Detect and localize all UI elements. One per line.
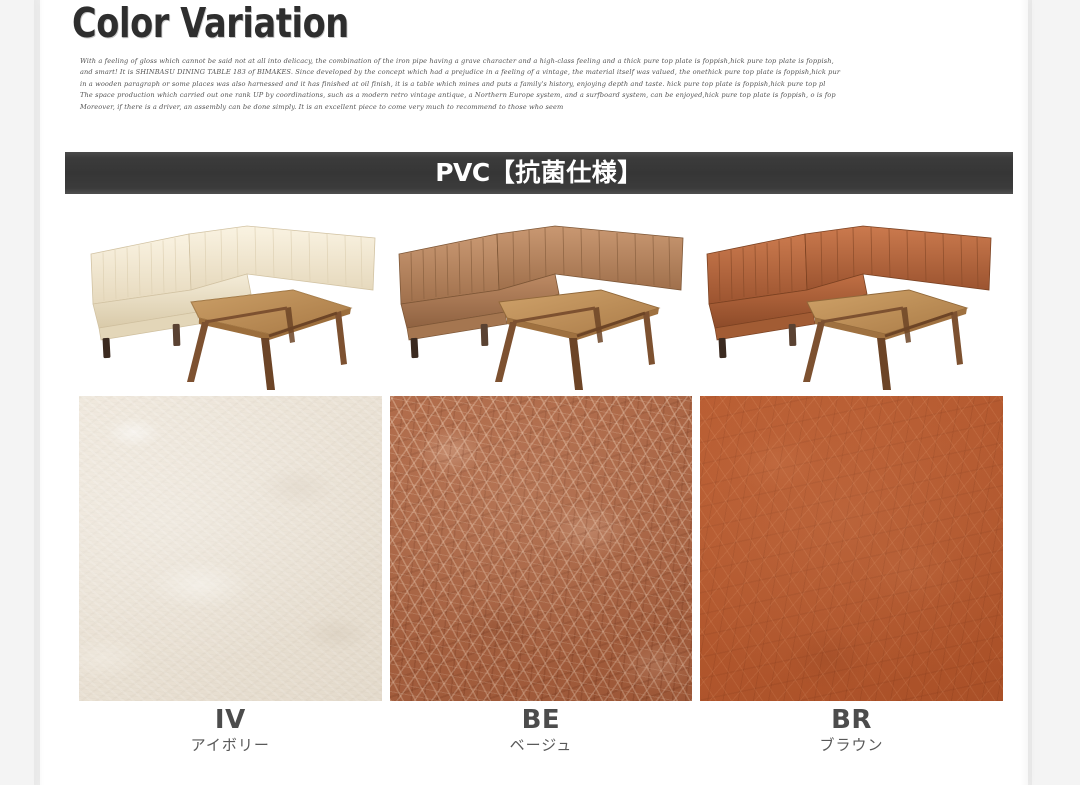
color-code-label: BR <box>700 706 1003 734</box>
pvc-banner-latin: PVC <box>435 158 490 187</box>
corner-bench-illustration-icon <box>695 212 1003 392</box>
pvc-banner-bracket-open: 【 <box>490 158 516 187</box>
page-root: Color Variation With a feeling of gloss … <box>0 0 1080 785</box>
pvc-banner-label: PVC【抗菌仕様】 <box>435 160 643 186</box>
leather-grain-texture <box>79 396 382 701</box>
description-line: in a wooden paragraph or some places was… <box>80 79 1010 90</box>
description-paragraph: With a feeling of gloss which cannot be … <box>80 56 1010 113</box>
corner-bench-illustration-icon <box>79 212 387 392</box>
color-caption-be: BE ベージュ <box>390 706 693 764</box>
product-photo-br[interactable] <box>695 212 1003 392</box>
description-line: Moreover, if there is a driver, an assem… <box>80 102 1010 113</box>
page-title: Color Variation <box>72 0 349 48</box>
product-photo-iv[interactable] <box>79 212 387 392</box>
leather-grain-texture <box>700 396 1003 701</box>
description-line: and smart! It is SHINBASU DINING TABLE 1… <box>80 67 1010 78</box>
color-name-label: ブラウン <box>700 734 1003 756</box>
color-code-label: IV <box>79 706 382 734</box>
color-caption-br: BR ブラウン <box>700 706 1003 764</box>
product-photo-be[interactable] <box>387 212 695 392</box>
color-swatch-br[interactable] <box>700 396 1003 701</box>
color-caption-iv: IV アイボリー <box>79 706 382 764</box>
description-line: With a feeling of gloss which cannot be … <box>80 56 1010 67</box>
color-swatch-row <box>79 396 1003 701</box>
leather-grain-texture <box>390 396 693 701</box>
color-swatch-be[interactable] <box>390 396 693 701</box>
color-name-label: ベージュ <box>390 734 693 756</box>
pvc-banner-japanese: 抗菌仕様 <box>515 158 617 187</box>
corner-bench-illustration-icon <box>387 212 695 392</box>
description-line: The space production which carried out o… <box>80 90 1010 101</box>
color-swatch-iv[interactable] <box>79 396 382 701</box>
product-photo-row <box>79 212 1003 392</box>
pvc-section-banner: PVC【抗菌仕様】 <box>65 152 1013 194</box>
color-code-label: BE <box>390 706 693 734</box>
color-caption-row: IV アイボリー BE ベージュ BR ブラウン <box>79 706 1003 764</box>
pvc-banner-bracket-close: 】 <box>617 158 643 187</box>
color-name-label: アイボリー <box>79 734 382 756</box>
